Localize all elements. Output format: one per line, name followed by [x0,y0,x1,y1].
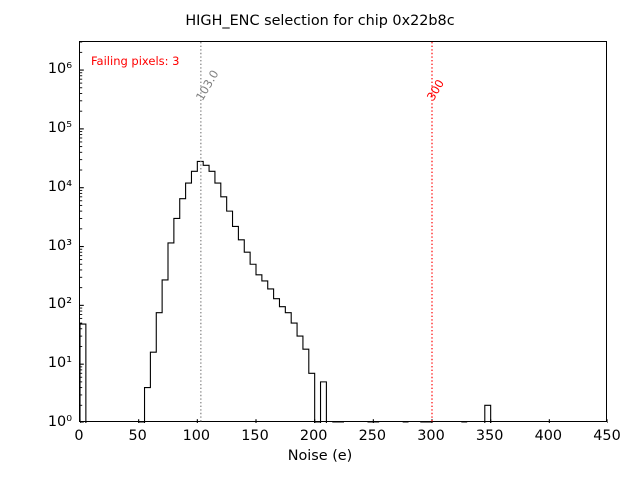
plot-area: Failing pixels: 3 103.0 300 [79,41,607,422]
histogram-figure: HIGH_ENC selection for chip 0x22b8c Numb… [0,0,640,480]
x-tick-label: 300 [417,428,444,444]
histogram-plot [80,42,608,423]
page-title: HIGH_ENC selection for chip 0x22b8c [0,13,640,29]
x-tick-label: 100 [183,428,210,444]
y-tick-label: 10¹ [48,355,72,371]
failing-pixels-annotation: Failing pixels: 3 [91,54,180,68]
y-tick-label: 10⁶ [48,61,72,77]
x-tick-label: 450 [593,428,620,444]
y-tick-label: 10⁵ [48,120,72,136]
x-tick-label: 400 [535,428,562,444]
x-tick-label: 250 [359,428,386,444]
x-tick-label: 200 [300,428,327,444]
y-tick-label: 10² [48,296,72,312]
x-tick-label: 0 [74,428,83,444]
x-axis-label: Noise (e) [0,448,640,464]
y-tick-label: 10⁰ [48,414,72,430]
y-tick-label: 10⁴ [48,179,72,195]
histogram-step-outline [80,161,491,423]
x-tick-label: 350 [476,428,503,444]
x-tick-label: 150 [241,428,268,444]
x-tick-label: 50 [129,428,147,444]
vertical-reference-lines [201,42,432,423]
tick-marks [80,42,608,423]
y-tick-label: 10³ [48,238,72,254]
